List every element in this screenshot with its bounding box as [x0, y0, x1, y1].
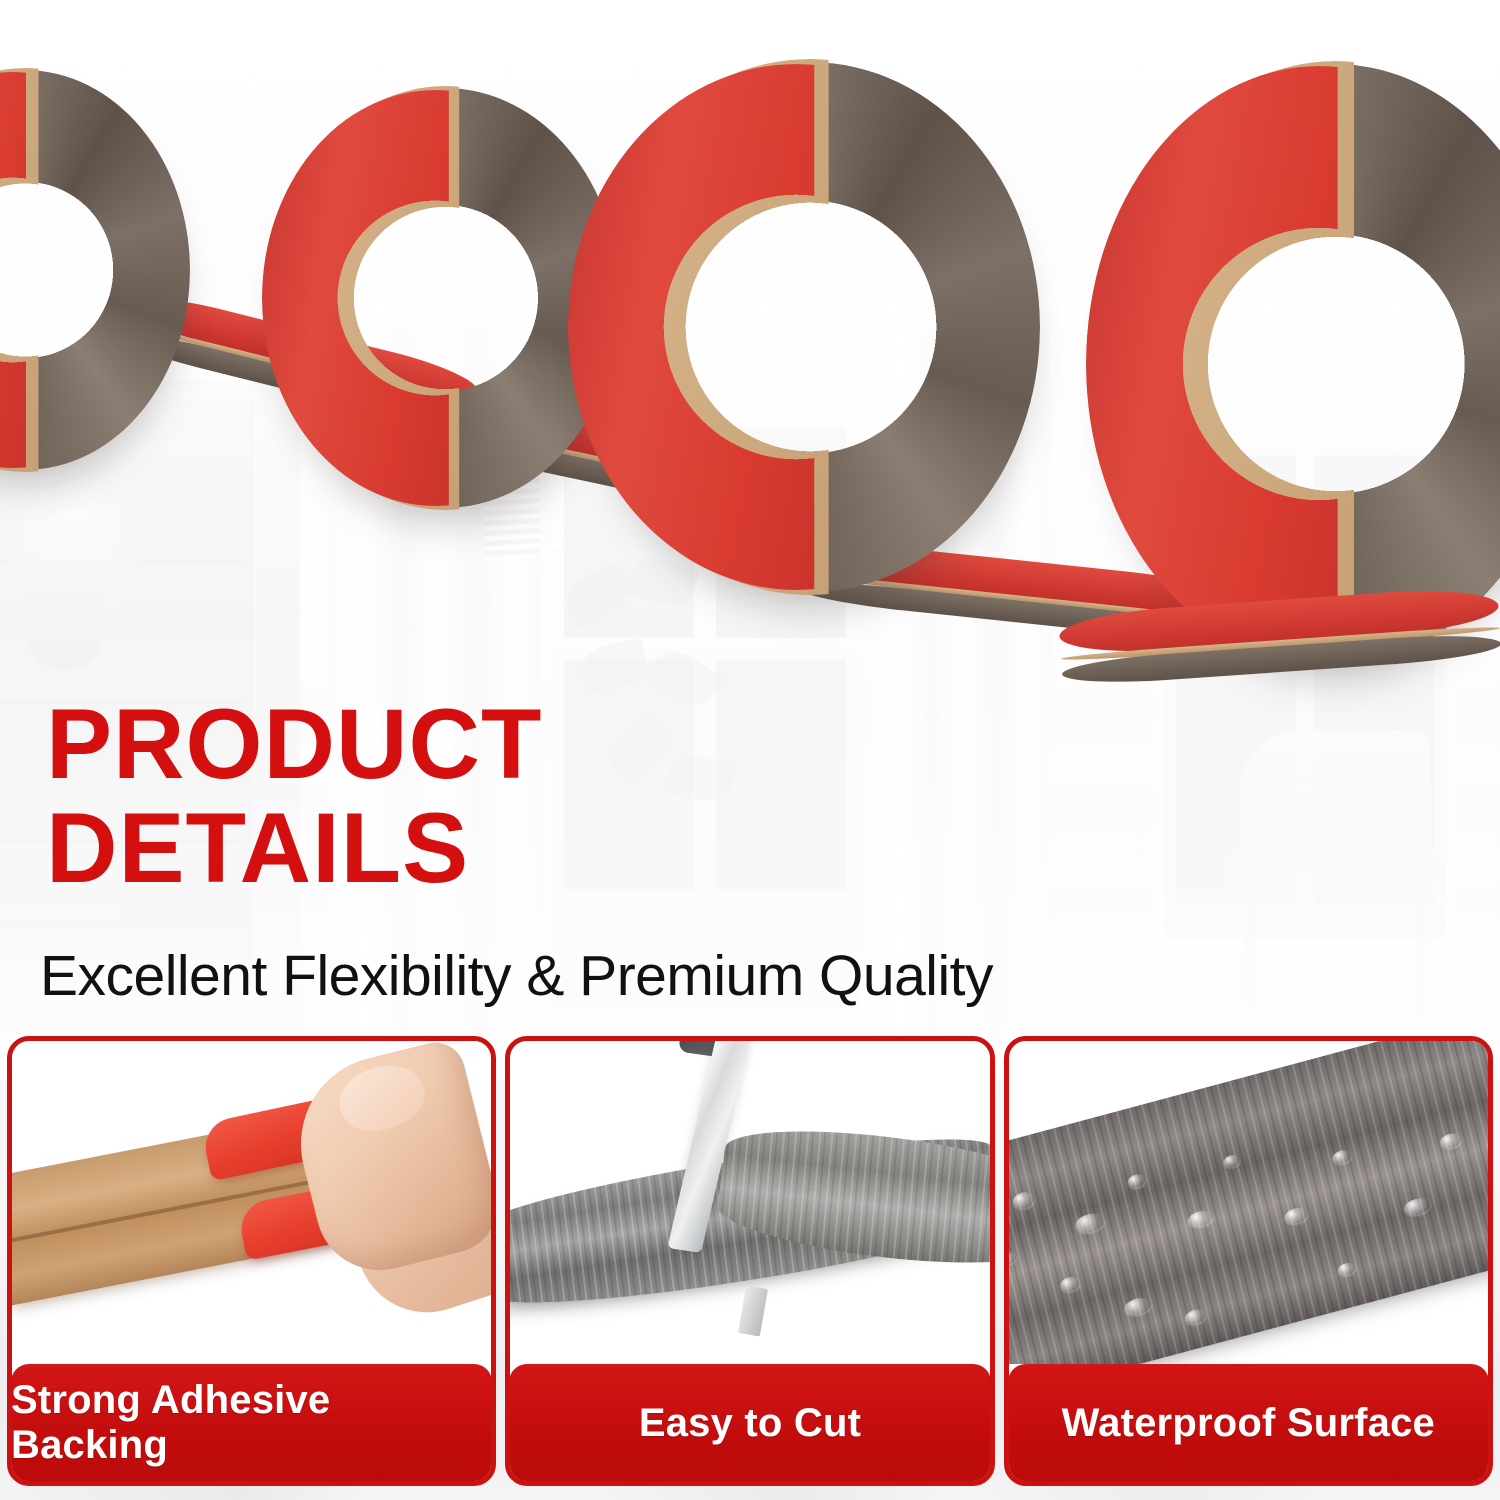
water-drop-icon [1126, 1173, 1147, 1190]
water-drop-icon [1009, 1251, 1018, 1267]
water-drop-icon [1122, 1295, 1153, 1318]
feature-photo-adhesive [12, 1041, 491, 1364]
page-title: PRODUCT DETAILS [46, 692, 1146, 900]
hero-coiled-tape [0, 0, 1500, 720]
scissors-lower-blade [738, 1285, 768, 1336]
page-title-line2: DETAILS [46, 796, 1146, 900]
water-drop-icon [1222, 1153, 1241, 1169]
water-drop-icon [1336, 1261, 1356, 1277]
water-drop-icon [1186, 1208, 1215, 1229]
water-drop-icon [1183, 1308, 1207, 1327]
feature-caption-adhesive: Strong Adhesive Backing [11, 1364, 492, 1482]
water-drop-icon [1073, 1211, 1107, 1236]
product-details-infographic: PRODUCT DETAILS Excellent Flexibility & … [0, 0, 1500, 1500]
feature-caption-waterproof: Waterproof Surface [1008, 1364, 1489, 1482]
water-drop-icon [1402, 1196, 1432, 1218]
water-drop-icon [1282, 1206, 1309, 1227]
wood-grain-strip [1009, 1041, 1488, 1364]
feature-panel-group: Strong Adhesive Backing Easy to Cut [0, 1036, 1500, 1486]
feature-photo-waterproof [1009, 1041, 1488, 1364]
water-drop-icon [1438, 1131, 1463, 1150]
page-title-line1: PRODUCT [46, 688, 543, 799]
feature-photo-easy-to-cut [510, 1041, 989, 1364]
feature-caption-easy-to-cut: Easy to Cut [509, 1364, 990, 1482]
feature-panel-easy-to-cut[interactable]: Easy to Cut [505, 1036, 994, 1486]
page-subtitle: Excellent Flexibility & Premium Quality [40, 942, 993, 1010]
water-drop-icon [1331, 1148, 1353, 1165]
water-drop-icon [1011, 1190, 1036, 1211]
feature-panel-adhesive[interactable]: Strong Adhesive Backing [7, 1036, 496, 1486]
feature-panel-waterproof[interactable]: Waterproof Surface [1004, 1036, 1493, 1486]
water-drop-icon [1058, 1275, 1081, 1294]
